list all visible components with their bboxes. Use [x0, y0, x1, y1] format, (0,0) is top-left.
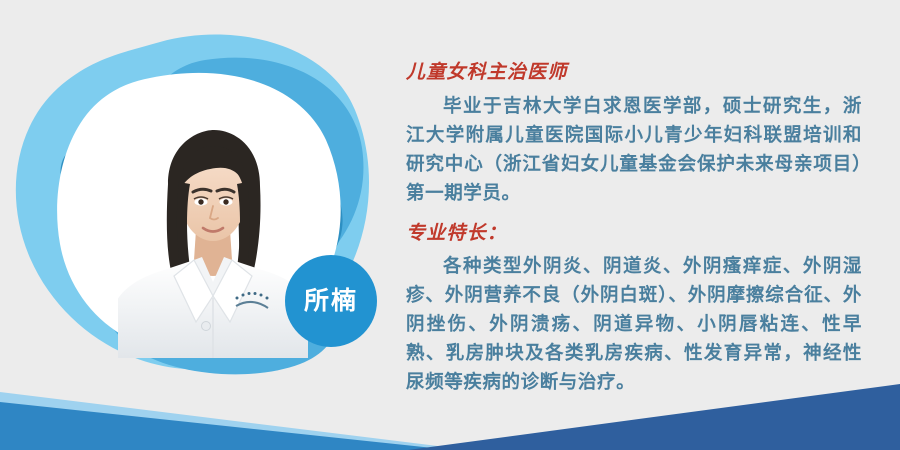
- section-title-block: 儿童女科主治医师 毕业于吉林大学白求恩医学部，硕士研究生，浙江大学附属儿童医院国…: [406, 60, 862, 207]
- section-body-title: 毕业于吉林大学白求恩医学部，硕士研究生，浙江大学附属儿童医院国际小儿青少年妇科联…: [406, 91, 862, 207]
- doctor-profile-poster: 所楠 儿童女科主治医师 毕业于吉林大学白求恩医学部，硕士研究生，浙江大学附属儿童…: [0, 0, 900, 450]
- profile-text-column: 儿童女科主治医师 毕业于吉林大学白求恩医学部，硕士研究生，浙江大学附属儿童医院国…: [406, 60, 862, 396]
- coat-button: [202, 322, 211, 331]
- doctor-name-label: 所楠: [304, 289, 358, 314]
- ribbon-right-navy: [408, 384, 900, 450]
- section-heading-title: 儿童女科主治医师: [406, 60, 862, 86]
- section-specialty-block: 专业特长： 各种类型外阴炎、阴道炎、外阴瘙痒症、外阴湿疹、外阴营养不良（外阴白斑…: [406, 221, 862, 397]
- bottom-ribbon: [0, 378, 900, 450]
- section-heading-specialty: 专业特长：: [406, 221, 862, 247]
- doctor-portrait-photo: [118, 126, 308, 358]
- section-body-specialty: 各种类型外阴炎、阴道炎、外阴瘙痒症、外阴湿疹、外阴营养不良（外阴白斑）、外阴摩擦…: [406, 251, 862, 396]
- doctor-name-badge: 所楠: [285, 255, 377, 347]
